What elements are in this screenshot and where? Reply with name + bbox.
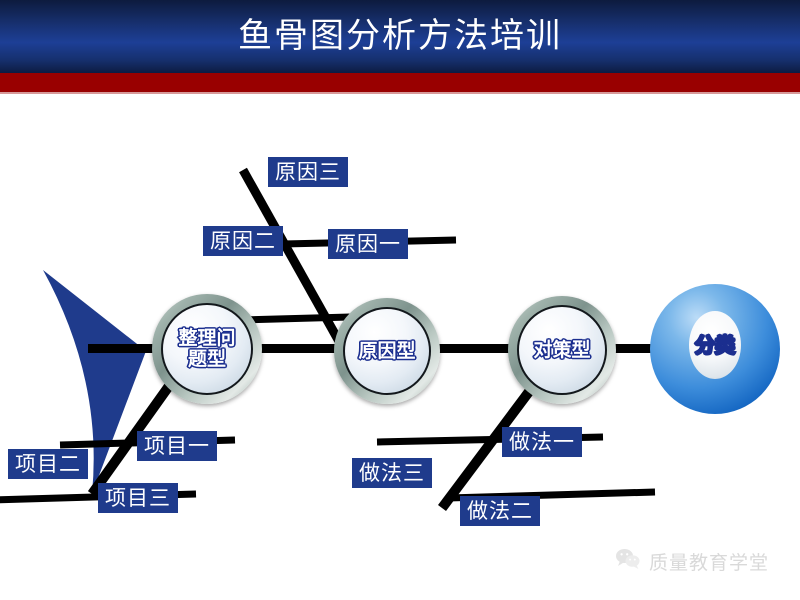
node-2-lens-inner: 原因型 [343,307,431,395]
node-1-lens-inner: 整理问 题型 [161,303,253,395]
node-4-ellipse: 分类 [689,311,741,379]
cause-label-1[interactable]: 原因一 [328,229,408,259]
node-cause-type[interactable]: 原因型 [334,298,440,404]
method-label-1[interactable]: 做法一 [502,427,582,457]
node-integrate-problem[interactable]: 整理问 题型 [152,294,262,404]
header-red-rule [0,73,800,92]
method-label-2[interactable]: 做法二 [460,496,540,526]
cause-label-2[interactable]: 原因二 [203,226,283,256]
item-label-2[interactable]: 项目二 [8,449,88,479]
node-4-label: 分类 [695,334,735,356]
method-label-3[interactable]: 做法三 [352,458,432,488]
node-countermeasure-type[interactable]: 对策型 [508,296,616,404]
node-classification[interactable]: 分类 [650,284,780,414]
wechat-icon [615,548,641,575]
node-2-label: 原因型 [358,341,415,362]
item-label-1[interactable]: 项目一 [137,431,217,461]
watermark: 质量教育学堂 [615,548,769,575]
node-3-label: 对策型 [533,340,590,361]
node-3-lens-inner: 对策型 [517,305,607,395]
upper-cause-diagonal [243,170,345,352]
cause-label-3[interactable]: 原因三 [268,157,348,187]
fishbone-diagram: 原因三 原因二 原因一 项目一 项目二 项目三 做法一 做法二 做法三 整理问 … [0,94,800,600]
item-label-3[interactable]: 项目三 [98,483,178,513]
node-3-label-line1: 对策型 [533,340,590,361]
watermark-text: 质量教育学堂 [649,548,769,575]
node-1-label: 整理问 题型 [178,328,235,370]
node-1-label-line1: 整理问 [178,328,235,349]
header-banner: 鱼骨图分析方法培训 [0,0,800,73]
page-title: 鱼骨图分析方法培训 [0,0,800,73]
node-2-label-line1: 原因型 [358,341,415,362]
node-1-label-line2: 题型 [178,349,235,370]
